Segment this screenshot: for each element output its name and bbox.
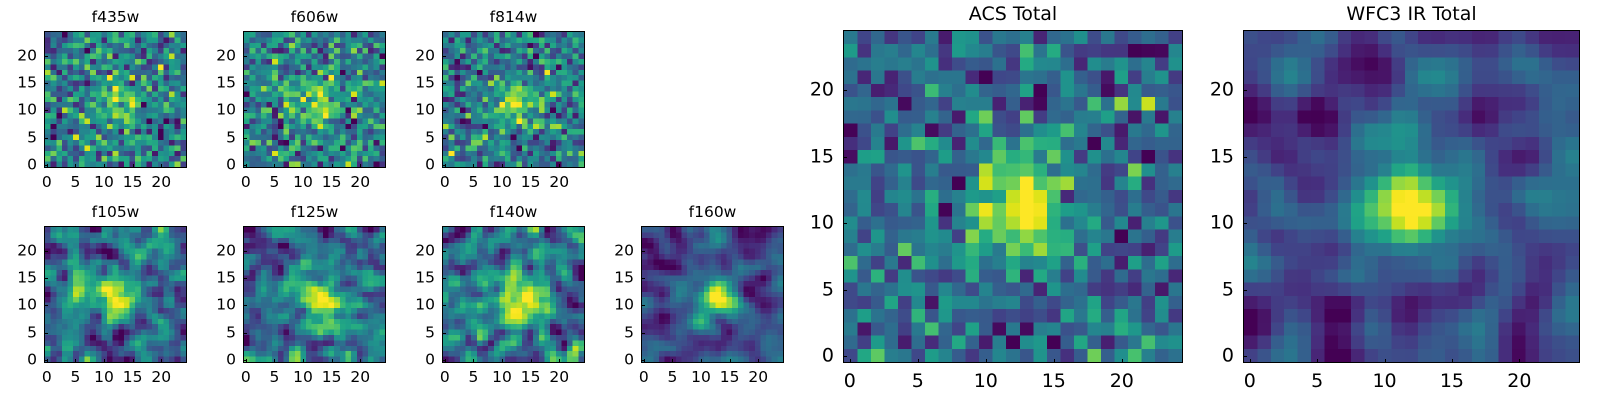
yticklabel-f606w-1: 5 (226, 130, 236, 146)
ytick-f814w-0 (442, 165, 446, 166)
ytick-f606w-0 (243, 165, 247, 166)
yticklabel-f140w-4: 20 (415, 243, 435, 259)
xticklabel-f125w-1: 5 (270, 370, 280, 386)
yticklabel-wfc3_ir_total-4: 20 (1210, 80, 1234, 99)
axes-frame-acs_total (843, 30, 1183, 363)
xtick-f814w-4 (559, 164, 560, 168)
panel-f814w: f814w0510152005101520 (442, 31, 585, 168)
xticklabel-f814w-4: 20 (549, 175, 569, 191)
ytick-f105w-0 (44, 360, 48, 361)
xticklabel-f814w-0: 0 (440, 175, 450, 191)
panel-f125w: f125w0510152005101520 (243, 226, 386, 363)
xticklabel-f140w-2: 10 (492, 370, 512, 386)
xtick-acs_total-4 (1122, 359, 1123, 363)
xticklabel-f160w-0: 0 (639, 370, 649, 386)
ytick-f814w-3 (442, 83, 446, 84)
ytick-wfc3_ir_total-0 (1243, 356, 1247, 357)
xticklabel-f160w-4: 20 (748, 370, 768, 386)
heatmap-image-f814w (443, 32, 584, 167)
xtick-f435w-4 (161, 164, 162, 168)
heatmap-image-acs_total (844, 31, 1182, 362)
heatmap-image-f125w (244, 227, 385, 362)
xticklabel-f125w-3: 15 (322, 370, 342, 386)
xtick-f435w-3 (133, 164, 134, 168)
xtick-f814w-2 (502, 164, 503, 168)
xtick-f160w-2 (701, 359, 702, 363)
xticklabel-f606w-2: 10 (293, 175, 313, 191)
xticklabel-f105w-2: 10 (94, 370, 114, 386)
panel-title-f814w: f814w (442, 10, 585, 26)
xticklabel-acs_total-1: 5 (912, 372, 924, 391)
yticklabel-wfc3_ir_total-1: 5 (1222, 280, 1234, 299)
ytick-f125w-3 (243, 278, 247, 279)
yticklabel-f140w-2: 10 (415, 298, 435, 314)
ytick-f140w-0 (442, 360, 446, 361)
panel-title-wfc3_ir_total: WFC3 IR Total (1243, 5, 1580, 24)
panel-f140w: f140w0510152005101520 (442, 226, 585, 363)
xtick-f125w-3 (332, 359, 333, 363)
yticklabel-f435w-2: 10 (17, 103, 37, 119)
ytick-f125w-1 (243, 333, 247, 334)
yticklabel-wfc3_ir_total-2: 10 (1210, 214, 1234, 233)
xtick-wfc3_ir_total-0 (1250, 359, 1251, 363)
xticklabel-f160w-3: 15 (720, 370, 740, 386)
xtick-f125w-4 (360, 359, 361, 363)
yticklabel-f435w-1: 5 (27, 130, 37, 146)
xtick-f814w-3 (531, 164, 532, 168)
axes-frame-f814w (442, 31, 585, 168)
ytick-f105w-4 (44, 251, 48, 252)
yticklabel-wfc3_ir_total-0: 0 (1222, 347, 1234, 366)
axes-frame-f125w (243, 226, 386, 363)
xtick-f105w-1 (75, 359, 76, 363)
ytick-f125w-0 (243, 360, 247, 361)
xticklabel-f140w-1: 5 (469, 370, 479, 386)
yticklabel-acs_total-4: 20 (810, 80, 834, 99)
yticklabel-f160w-2: 10 (614, 298, 634, 314)
xticklabel-f435w-2: 10 (94, 175, 114, 191)
yticklabel-f814w-1: 5 (425, 130, 435, 146)
xticklabel-f814w-2: 10 (492, 175, 512, 191)
xticklabel-f140w-3: 15 (521, 370, 541, 386)
ytick-f105w-2 (44, 305, 48, 306)
xtick-f606w-4 (360, 164, 361, 168)
ytick-f814w-1 (442, 138, 446, 139)
ytick-acs_total-4 (843, 90, 847, 91)
yticklabel-f125w-3: 15 (216, 270, 236, 286)
heatmap-image-f105w (45, 227, 186, 362)
ytick-wfc3_ir_total-4 (1243, 90, 1247, 91)
yticklabel-f105w-4: 20 (17, 243, 37, 259)
xticklabel-f435w-1: 5 (71, 175, 81, 191)
ytick-f105w-3 (44, 278, 48, 279)
xtick-f140w-3 (531, 359, 532, 363)
yticklabel-f814w-0: 0 (425, 158, 435, 174)
xtick-wfc3_ir_total-2 (1385, 359, 1386, 363)
ytick-f814w-2 (442, 110, 446, 111)
panel-title-f435w: f435w (44, 10, 187, 26)
ytick-wfc3_ir_total-3 (1243, 157, 1247, 158)
xticklabel-f160w-2: 10 (691, 370, 711, 386)
xtick-f435w-1 (75, 164, 76, 168)
ytick-f435w-2 (44, 110, 48, 111)
panel-f160w: f160w0510152005101520 (641, 226, 784, 363)
xtick-f125w-2 (303, 359, 304, 363)
xtick-f140w-2 (502, 359, 503, 363)
ytick-f606w-1 (243, 138, 247, 139)
axes-frame-f606w (243, 31, 386, 168)
xtick-f606w-3 (332, 164, 333, 168)
yticklabel-f160w-1: 5 (624, 325, 634, 341)
ytick-f140w-4 (442, 251, 446, 252)
ytick-f160w-0 (641, 360, 645, 361)
heatmap-image-f435w (45, 32, 186, 167)
ytick-acs_total-2 (843, 223, 847, 224)
yticklabel-f125w-0: 0 (226, 353, 236, 369)
heatmap-image-f606w (244, 32, 385, 167)
xticklabel-f105w-3: 15 (123, 370, 143, 386)
xticklabel-f814w-3: 15 (521, 175, 541, 191)
panel-title-acs_total: ACS Total (843, 5, 1183, 24)
xtick-f105w-4 (161, 359, 162, 363)
ytick-wfc3_ir_total-2 (1243, 223, 1247, 224)
yticklabel-acs_total-0: 0 (822, 347, 834, 366)
figure-canvas: f435w0510152005101520f606w05101520051015… (0, 0, 1600, 400)
yticklabel-f105w-1: 5 (27, 325, 37, 341)
xticklabel-f435w-4: 20 (151, 175, 171, 191)
xtick-f160w-1 (672, 359, 673, 363)
yticklabel-f435w-0: 0 (27, 158, 37, 174)
panel-title-f125w: f125w (243, 205, 386, 221)
yticklabel-f160w-4: 20 (614, 243, 634, 259)
xtick-f140w-1 (473, 359, 474, 363)
ytick-f160w-3 (641, 278, 645, 279)
yticklabel-wfc3_ir_total-3: 15 (1210, 147, 1234, 166)
ytick-f160w-4 (641, 251, 645, 252)
ytick-f814w-4 (442, 56, 446, 57)
panel-title-f606w: f606w (243, 10, 386, 26)
yticklabel-f606w-0: 0 (226, 158, 236, 174)
xticklabel-f606w-4: 20 (350, 175, 370, 191)
ytick-f606w-4 (243, 56, 247, 57)
xtick-f435w-2 (104, 164, 105, 168)
heatmap-image-f160w (642, 227, 783, 362)
xticklabel-f435w-0: 0 (42, 175, 52, 191)
ytick-f435w-0 (44, 165, 48, 166)
ytick-acs_total-1 (843, 290, 847, 291)
xticklabel-f125w-2: 10 (293, 370, 313, 386)
yticklabel-f606w-4: 20 (216, 48, 236, 64)
xticklabel-f125w-4: 20 (350, 370, 370, 386)
ytick-f435w-4 (44, 56, 48, 57)
xticklabel-acs_total-4: 20 (1110, 372, 1134, 391)
yticklabel-f140w-0: 0 (425, 353, 435, 369)
xtick-acs_total-2 (986, 359, 987, 363)
xtick-f160w-3 (730, 359, 731, 363)
ytick-f140w-3 (442, 278, 446, 279)
yticklabel-f125w-4: 20 (216, 243, 236, 259)
ytick-f140w-2 (442, 305, 446, 306)
panel-title-f160w: f160w (641, 205, 784, 221)
panel-title-f140w: f140w (442, 205, 585, 221)
xticklabel-wfc3_ir_total-0: 0 (1244, 372, 1256, 391)
yticklabel-f105w-0: 0 (27, 353, 37, 369)
xtick-f125w-1 (274, 359, 275, 363)
axes-frame-wfc3_ir_total (1243, 30, 1580, 363)
panel-f105w: f105w0510152005101520 (44, 226, 187, 363)
yticklabel-f435w-3: 15 (17, 75, 37, 91)
xtick-wfc3_ir_total-4 (1519, 359, 1520, 363)
xticklabel-f435w-3: 15 (123, 175, 143, 191)
axes-frame-f435w (44, 31, 187, 168)
xticklabel-acs_total-3: 15 (1042, 372, 1066, 391)
panel-wfc3_ir_total: WFC3 IR Total0510152005101520 (1243, 30, 1580, 363)
xtick-f105w-3 (133, 359, 134, 363)
heatmap-image-f140w (443, 227, 584, 362)
xticklabel-f125w-0: 0 (241, 370, 251, 386)
ytick-f160w-2 (641, 305, 645, 306)
xtick-f606w-1 (274, 164, 275, 168)
yticklabel-f814w-2: 10 (415, 103, 435, 119)
xtick-acs_total-0 (850, 359, 851, 363)
xtick-acs_total-1 (918, 359, 919, 363)
yticklabel-f125w-1: 5 (226, 325, 236, 341)
yticklabel-acs_total-2: 10 (810, 214, 834, 233)
xtick-f606w-2 (303, 164, 304, 168)
xtick-f814w-1 (473, 164, 474, 168)
yticklabel-f125w-2: 10 (216, 298, 236, 314)
xticklabel-wfc3_ir_total-4: 20 (1507, 372, 1531, 391)
yticklabel-f140w-1: 5 (425, 325, 435, 341)
xticklabel-f606w-3: 15 (322, 175, 342, 191)
ytick-wfc3_ir_total-1 (1243, 290, 1247, 291)
xtick-acs_total-3 (1054, 359, 1055, 363)
heatmap-image-wfc3_ir_total (1244, 31, 1579, 362)
yticklabel-acs_total-3: 15 (810, 147, 834, 166)
panel-f606w: f606w0510152005101520 (243, 31, 386, 168)
ytick-f435w-1 (44, 138, 48, 139)
xticklabel-f105w-4: 20 (151, 370, 171, 386)
xticklabel-f606w-0: 0 (241, 175, 251, 191)
xtick-f105w-2 (104, 359, 105, 363)
xticklabel-f105w-0: 0 (42, 370, 52, 386)
xticklabel-f140w-0: 0 (440, 370, 450, 386)
xticklabel-wfc3_ir_total-3: 15 (1440, 372, 1464, 391)
yticklabel-f160w-0: 0 (624, 353, 634, 369)
xticklabel-f140w-4: 20 (549, 370, 569, 386)
ytick-f105w-1 (44, 333, 48, 334)
xtick-f140w-4 (559, 359, 560, 363)
ytick-f125w-4 (243, 251, 247, 252)
ytick-f125w-2 (243, 305, 247, 306)
yticklabel-f814w-3: 15 (415, 75, 435, 91)
xticklabel-f105w-1: 5 (71, 370, 81, 386)
panel-acs_total: ACS Total0510152005101520 (843, 30, 1183, 363)
xticklabel-acs_total-2: 10 (974, 372, 998, 391)
yticklabel-f606w-2: 10 (216, 103, 236, 119)
xticklabel-acs_total-0: 0 (844, 372, 856, 391)
xticklabel-wfc3_ir_total-2: 10 (1372, 372, 1396, 391)
xticklabel-wfc3_ir_total-1: 5 (1311, 372, 1323, 391)
xticklabel-f160w-1: 5 (668, 370, 678, 386)
xticklabel-f606w-1: 5 (270, 175, 280, 191)
ytick-f606w-2 (243, 110, 247, 111)
xticklabel-f814w-1: 5 (469, 175, 479, 191)
ytick-f160w-1 (641, 333, 645, 334)
ytick-f140w-1 (442, 333, 446, 334)
ytick-acs_total-0 (843, 356, 847, 357)
yticklabel-f606w-3: 15 (216, 75, 236, 91)
yticklabel-f814w-4: 20 (415, 48, 435, 64)
yticklabel-f105w-3: 15 (17, 270, 37, 286)
xtick-wfc3_ir_total-1 (1317, 359, 1318, 363)
axes-frame-f160w (641, 226, 784, 363)
yticklabel-f435w-4: 20 (17, 48, 37, 64)
xtick-wfc3_ir_total-3 (1452, 359, 1453, 363)
xtick-f160w-4 (758, 359, 759, 363)
ytick-acs_total-3 (843, 157, 847, 158)
ytick-f606w-3 (243, 83, 247, 84)
ytick-f435w-3 (44, 83, 48, 84)
yticklabel-f160w-3: 15 (614, 270, 634, 286)
yticklabel-f105w-2: 10 (17, 298, 37, 314)
yticklabel-f140w-3: 15 (415, 270, 435, 286)
panel-title-f105w: f105w (44, 205, 187, 221)
axes-frame-f140w (442, 226, 585, 363)
panel-f435w: f435w0510152005101520 (44, 31, 187, 168)
axes-frame-f105w (44, 226, 187, 363)
yticklabel-acs_total-1: 5 (822, 280, 834, 299)
